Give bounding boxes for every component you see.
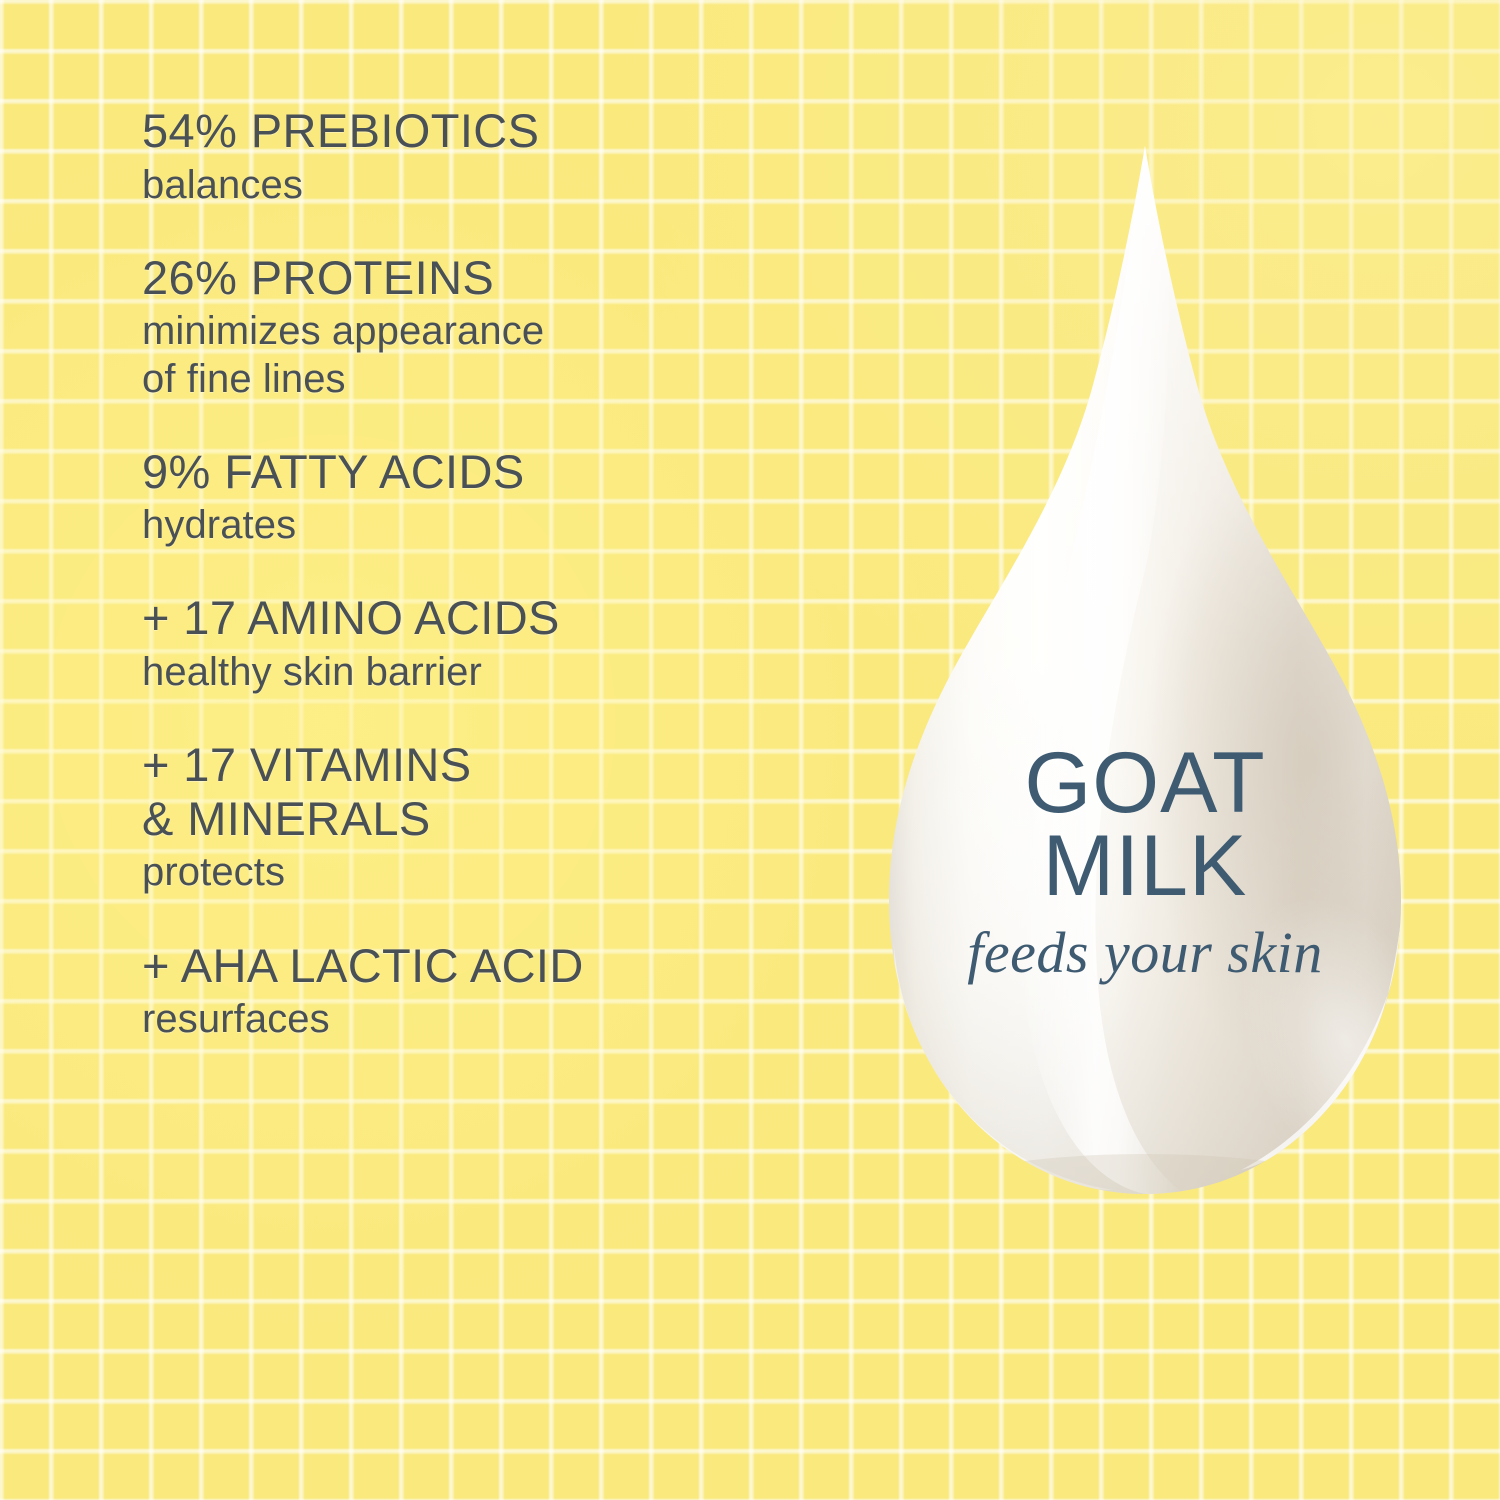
benefit-headline: + 17 AMINO ACIDS (142, 591, 842, 645)
benefit-item-proteins: 26% PROTEINS minimizes appearance of fin… (142, 251, 842, 403)
benefit-headline: 9% FATTY ACIDS (142, 445, 842, 499)
milk-droplet-icon (845, 140, 1445, 1210)
benefit-subtext: minimizes appearance of fine lines (142, 308, 842, 402)
benefit-subtext: balances (142, 162, 842, 209)
benefits-list: 54% PREBIOTICS balances 26% PROTEINS min… (142, 104, 842, 1043)
benefit-item-amino-acids: + 17 AMINO ACIDS healthy skin barrier (142, 591, 842, 696)
benefit-subtext: hydrates (142, 502, 842, 549)
benefit-subtext: resurfaces (142, 996, 842, 1043)
benefit-item-prebiotics: 54% PREBIOTICS balances (142, 104, 842, 209)
benefit-headline: 26% PROTEINS (142, 251, 842, 305)
benefit-headline: + 17 VITAMINS & MINERALS (142, 738, 842, 845)
benefit-subtext: protects (142, 849, 842, 896)
product-benefits-graphic: 54% PREBIOTICS balances 26% PROTEINS min… (0, 0, 1500, 1500)
benefit-headline: + AHA LACTIC ACID (142, 939, 842, 993)
benefit-item-aha-lactic-acid: + AHA LACTIC ACID resurfaces (142, 939, 842, 1044)
benefit-item-fatty-acids: 9% FATTY ACIDS hydrates (142, 445, 842, 550)
benefit-subtext: healthy skin barrier (142, 649, 842, 696)
benefit-item-vitamins-minerals: + 17 VITAMINS & MINERALS protects (142, 738, 842, 896)
benefit-headline: 54% PREBIOTICS (142, 104, 842, 158)
